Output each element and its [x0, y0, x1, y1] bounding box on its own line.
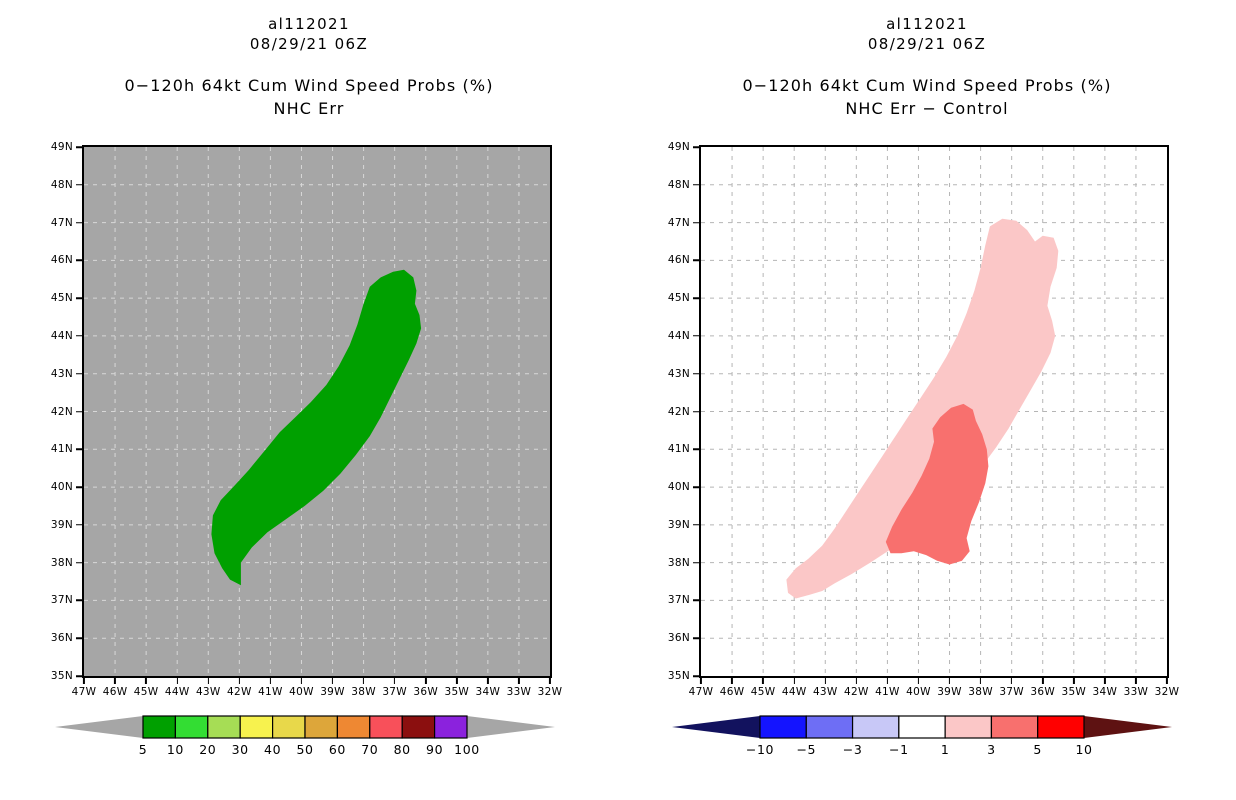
- colorbar-swatch[interactable]: [806, 716, 852, 738]
- x-axis-tick-35w: 35W: [1061, 678, 1086, 698]
- x-axis-tick-41w: 41W: [875, 678, 900, 698]
- right-contour-shapes: [786, 219, 1058, 599]
- left-panel-titles: al112021 08/29/21 06Z 0−120h 64kt Cum Wi…: [0, 14, 618, 120]
- colorbar-swatch[interactable]: [853, 716, 899, 738]
- y-axis-tick-48n: 48N: [51, 179, 82, 191]
- colorbar-tick-label: 100: [454, 742, 480, 757]
- y-axis-tick-42n: 42N: [668, 406, 699, 418]
- colorbar-tick-label: 30: [232, 742, 249, 757]
- right-contour-svg: [701, 147, 1167, 676]
- probability-colorbar-swatches[interactable]: [55, 712, 555, 742]
- storm-id-label: al112021: [618, 14, 1236, 34]
- difference-colorbar-swatches[interactable]: [672, 712, 1172, 742]
- y-axis-tick-43n: 43N: [668, 368, 699, 380]
- y-axis-tick-49n: 49N: [668, 141, 699, 153]
- colorbar-tick-label: 10: [1075, 742, 1092, 757]
- colorbar-swatch[interactable]: [337, 716, 369, 738]
- plot-subtitle: NHC Err − Control: [618, 98, 1236, 120]
- x-axis-tick-38w: 38W: [968, 678, 993, 698]
- x-axis-tick-37w: 37W: [999, 678, 1024, 698]
- storm-id-label: al112021: [0, 14, 618, 34]
- colorbar-tick-label: 80: [394, 742, 411, 757]
- y-axis-tick-46n: 46N: [668, 254, 699, 266]
- colorbar-tick-label: 90: [426, 742, 443, 757]
- x-axis-tick-42w: 42W: [844, 678, 869, 698]
- colorbar-tick-label: 1: [941, 742, 950, 757]
- plot-title: 0−120h 64kt Cum Wind Speed Probs (%): [0, 74, 618, 98]
- x-axis-tick-39w: 39W: [320, 678, 345, 698]
- x-axis-tick-46w: 46W: [103, 678, 128, 698]
- colorbar-swatch[interactable]: [175, 716, 207, 738]
- colorbar-tick-label: 60: [329, 742, 346, 757]
- x-axis-tick-35w: 35W: [444, 678, 469, 698]
- x-axis-tick-44w: 44W: [165, 678, 190, 698]
- y-axis-tick-38n: 38N: [51, 557, 82, 569]
- y-axis-tick-41n: 41N: [668, 443, 699, 455]
- colorbar-swatch[interactable]: [899, 716, 945, 738]
- y-axis-tick-42n: 42N: [51, 406, 82, 418]
- colorbar-high-cap: [467, 716, 555, 738]
- y-axis-tick-47n: 47N: [51, 217, 82, 229]
- y-axis-tick-49n: 49N: [51, 141, 82, 153]
- colorbar-swatch[interactable]: [1038, 716, 1084, 738]
- y-axis-tick-43n: 43N: [51, 368, 82, 380]
- y-axis-tick-36n: 36N: [51, 632, 82, 644]
- x-axis-tick-46w: 46W: [720, 678, 745, 698]
- x-axis-tick-41w: 41W: [258, 678, 283, 698]
- x-axis-tick-34w: 34W: [476, 678, 501, 698]
- x-axis-tick-43w: 43W: [813, 678, 838, 698]
- colorbar-swatch[interactable]: [208, 716, 240, 738]
- x-axis-tick-32w: 32W: [1155, 678, 1180, 698]
- y-axis-tick-37n: 37N: [51, 594, 82, 606]
- y-axis-tick-48n: 48N: [668, 179, 699, 191]
- colorbar-swatch[interactable]: [143, 716, 175, 738]
- colorbar-swatch[interactable]: [945, 716, 991, 738]
- colorbar-swatch[interactable]: [305, 716, 337, 738]
- left-contour-svg: [84, 147, 550, 676]
- colorbar-swatch[interactable]: [402, 716, 434, 738]
- x-axis-tick-33w: 33W: [1124, 678, 1149, 698]
- left-plot-frame: [82, 145, 552, 678]
- colorbar-tick-label: 70: [361, 742, 378, 757]
- datetime-label: 08/29/21 06Z: [0, 34, 618, 54]
- colorbar-swatch[interactable]: [240, 716, 272, 738]
- y-axis-tick-47n: 47N: [668, 217, 699, 229]
- y-axis-tick-44n: 44N: [668, 330, 699, 342]
- y-axis-tick-44n: 44N: [51, 330, 82, 342]
- x-axis-tick-38w: 38W: [351, 678, 376, 698]
- contour-region-5-10: [211, 270, 421, 586]
- x-axis-tick-40w: 40W: [289, 678, 314, 698]
- x-axis-tick-33w: 33W: [507, 678, 532, 698]
- colorbar-tick-label: −3: [843, 742, 863, 757]
- panel-nhc-err: al112021 08/29/21 06Z 0−120h 64kt Cum Wi…: [0, 0, 618, 800]
- y-axis-tick-38n: 38N: [668, 557, 699, 569]
- colorbar-low-cap: [672, 716, 760, 738]
- colorbar-tick-label: −1: [889, 742, 909, 757]
- colorbar-swatch[interactable]: [370, 716, 402, 738]
- y-axis-tick-45n: 45N: [668, 292, 699, 304]
- colorbar-tick-label: 20: [199, 742, 216, 757]
- colorbar-low-cap: [55, 716, 143, 738]
- x-axis-tick-37w: 37W: [382, 678, 407, 698]
- y-axis-tick-36n: 36N: [668, 632, 699, 644]
- colorbar-tick-label: 3: [987, 742, 996, 757]
- x-axis-tick-32w: 32W: [538, 678, 563, 698]
- x-axis-tick-40w: 40W: [906, 678, 931, 698]
- y-axis-tick-37n: 37N: [668, 594, 699, 606]
- colorbar-tick-label: 5: [1033, 742, 1042, 757]
- y-axis-tick-39n: 39N: [668, 519, 699, 531]
- y-axis-tick-45n: 45N: [51, 292, 82, 304]
- panel-nhc-err-minus-control: al112021 08/29/21 06Z 0−120h 64kt Cum Wi…: [618, 0, 1236, 800]
- x-axis-tick-45w: 45W: [134, 678, 159, 698]
- x-axis-tick-44w: 44W: [782, 678, 807, 698]
- difference-colorbar-labels: −10−5−3−113510: [672, 742, 1172, 764]
- datetime-label: 08/29/21 06Z: [618, 34, 1236, 54]
- colorbar-swatch[interactable]: [273, 716, 305, 738]
- colorbar-high-cap: [1084, 716, 1172, 738]
- x-axis-tick-42w: 42W: [227, 678, 252, 698]
- difference-colorbar[interactable]: −10−5−3−113510: [672, 712, 1172, 778]
- right-panel-titles: al112021 08/29/21 06Z 0−120h 64kt Cum Wi…: [618, 14, 1236, 120]
- right-plot-area: 49N48N47N46N45N44N43N42N41N40N39N38N37N3…: [699, 145, 1169, 678]
- x-axis-tick-43w: 43W: [196, 678, 221, 698]
- x-axis-tick-47w: 47W: [689, 678, 714, 698]
- colorbar-tick-label: −10: [746, 742, 774, 757]
- colorbar-tick-label: 50: [296, 742, 313, 757]
- probability-colorbar-labels: 5102030405060708090100: [55, 742, 555, 764]
- plot-subtitle: NHC Err: [0, 98, 618, 120]
- x-axis-tick-36w: 36W: [413, 678, 438, 698]
- x-axis-tick-34w: 34W: [1093, 678, 1118, 698]
- y-axis-tick-40n: 40N: [668, 481, 699, 493]
- y-axis-tick-39n: 39N: [51, 519, 82, 531]
- right-plot-frame: [699, 145, 1169, 678]
- y-axis-tick-46n: 46N: [51, 254, 82, 266]
- x-axis-tick-47w: 47W: [72, 678, 97, 698]
- plot-title: 0−120h 64kt Cum Wind Speed Probs (%): [618, 74, 1236, 98]
- left-contour-shapes: [211, 270, 421, 586]
- colorbar-tick-label: −5: [796, 742, 816, 757]
- x-axis-tick-39w: 39W: [937, 678, 962, 698]
- colorbar-swatch[interactable]: [760, 716, 806, 738]
- y-axis-tick-41n: 41N: [51, 443, 82, 455]
- x-axis-tick-36w: 36W: [1030, 678, 1055, 698]
- y-axis-tick-40n: 40N: [51, 481, 82, 493]
- colorbar-tick-label: 40: [264, 742, 281, 757]
- x-axis-tick-45w: 45W: [751, 678, 776, 698]
- colorbar-tick-label: 5: [139, 742, 148, 757]
- left-plot-area: 49N48N47N46N45N44N43N42N41N40N39N38N37N3…: [82, 145, 552, 678]
- colorbar-tick-label: 10: [167, 742, 184, 757]
- colorbar-swatch[interactable]: [435, 716, 467, 738]
- colorbar-swatch[interactable]: [991, 716, 1037, 738]
- probability-colorbar[interactable]: 5102030405060708090100: [55, 712, 555, 778]
